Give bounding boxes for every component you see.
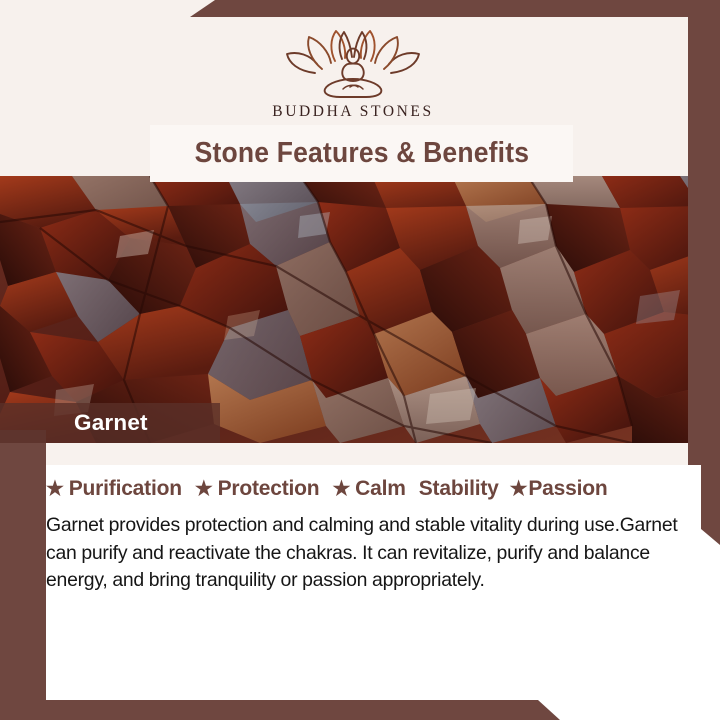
stone-name-label: Garnet — [0, 403, 220, 443]
benefit-item-stability: Stability — [419, 477, 499, 501]
benefit-label: Stability — [419, 477, 499, 501]
benefit-label: Calm — [355, 477, 406, 501]
left-accent-column — [0, 430, 46, 710]
brand-logo: BUDDHA STONES — [18, 27, 688, 121]
star-icon: ★ — [195, 479, 213, 499]
benefit-label: Passion — [528, 477, 607, 501]
stone-name-text: Garnet — [74, 410, 148, 436]
content-section: ★ Purification ★ Protection ★ Calm Stabi… — [46, 465, 701, 700]
page-title: Stone Features & Benefits — [194, 137, 529, 170]
star-icon: ★ — [510, 479, 528, 499]
benefit-item-calm: ★ Calm — [332, 477, 405, 501]
benefit-label: Purification — [69, 477, 182, 501]
star-icon: ★ — [46, 479, 64, 499]
benefits-list: ★ Purification ★ Protection ★ Calm Stabi… — [46, 477, 686, 501]
benefit-item-protection: ★ Protection — [195, 477, 320, 501]
brand-name: BUDDHA STONES — [272, 103, 433, 121]
star-icon: ★ — [332, 479, 350, 499]
benefit-item-purification: ★ Purification — [46, 477, 182, 501]
product-info-card: BUDDHA STONES — [0, 0, 720, 720]
right-accent-column — [688, 0, 720, 545]
bottom-accent-banner — [0, 700, 720, 720]
divider-strip — [0, 443, 720, 465]
page-title-card: Stone Features & Benefits — [150, 125, 573, 182]
benefit-label: Protection — [218, 477, 320, 501]
lotus-meditation-icon — [278, 27, 428, 99]
benefit-item-passion: ★ Passion — [510, 477, 608, 501]
stone-description: Garnet provides protection and calming a… — [46, 512, 689, 595]
